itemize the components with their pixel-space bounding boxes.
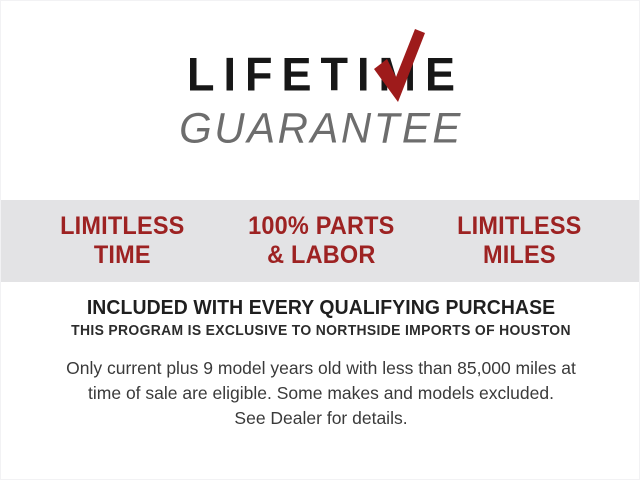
logo-word-guarantee: GUARANTEE [1,107,640,150]
benefits-band: LIMITLESS TIME 100% PARTS & LABOR LIMITL… [1,200,640,282]
benefit-line-2: MILES [426,241,613,271]
benefit-column-parts-labor: 100% PARTS & LABOR [228,212,415,271]
footer-block: INCLUDED WITH EVERY QUALIFYING PURCHASE … [1,297,640,430]
benefit-column-limitless-miles: LIMITLESS MILES [426,212,613,271]
footer-fineprint: Only current plus 9 model years old with… [1,356,640,431]
benefit-line-1: LIMITLESS [457,212,581,240]
footer-subline: THIS PROGRAM IS EXCLUSIVE TO NORTHSIDE I… [14,324,628,340]
benefit-line-1: LIMITLESS [60,212,184,240]
logo-word-lifetime: LIFETIME [178,50,464,98]
logo-lifetime-wrap: LIFETIME [178,53,464,98]
fineprint-line-1: Only current plus 9 model years old with… [1,356,640,381]
fineprint-line-3: See Dealer for details. [1,406,640,431]
benefit-line-2: & LABOR [228,241,415,271]
logo-lockup: LIFETIME GUARANTEE [1,53,640,149]
footer-headline: INCLUDED WITH EVERY QUALIFYING PURCHASE [11,297,632,319]
benefit-line-1: 100% PARTS [248,212,394,240]
benefit-line-2: TIME [29,241,216,271]
fineprint-line-2: time of sale are eligible. Some makes an… [1,381,640,406]
benefit-column-limitless-time: LIMITLESS TIME [29,212,216,271]
lifetime-guarantee-ad: LIFETIME GUARANTEE LIMITLESS TIME 100% P… [0,0,640,480]
